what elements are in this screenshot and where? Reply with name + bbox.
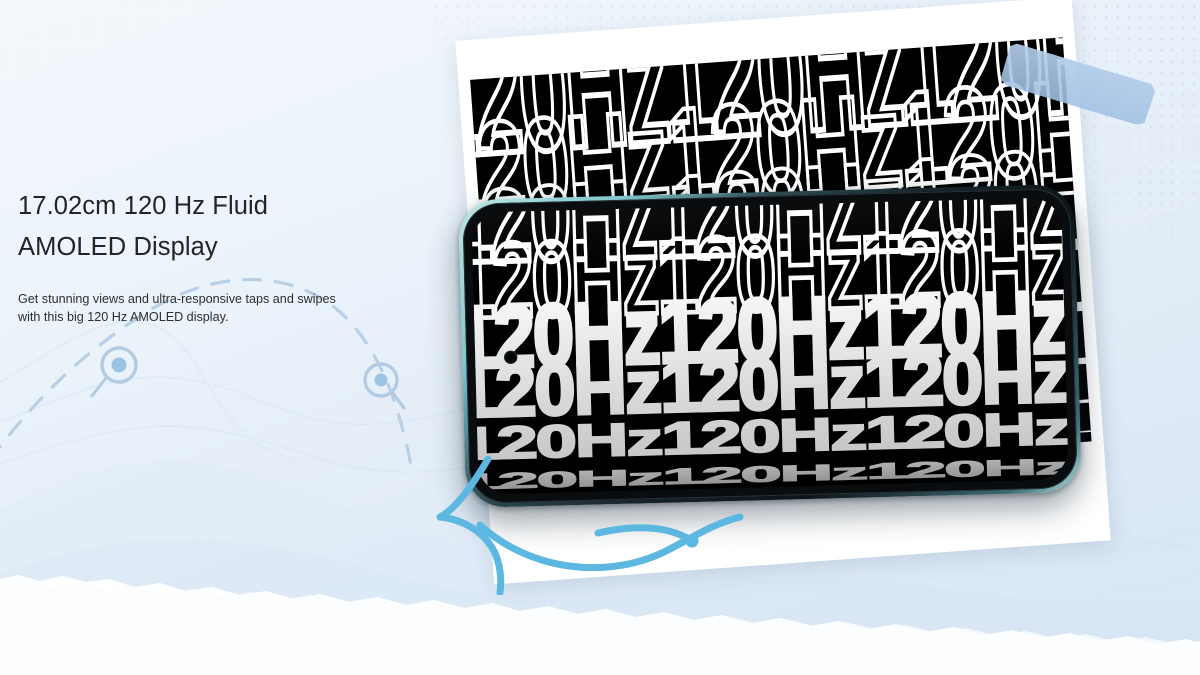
headline: 17.02cm 120 Hz Fluid AMOLED Display (18, 186, 418, 268)
copy-block: 17.02cm 120 Hz Fluid AMOLED Display Get … (18, 186, 418, 326)
promo-banner: 17.02cm 120 Hz Fluid AMOLED Display Get … (0, 0, 1200, 675)
phone-frame: 120Hz120Hz120Hz 120Hz120Hz120Hz 120Hz120… (458, 184, 1082, 508)
phone-hz-wallpaper: 120Hz120Hz120Hz 120Hz120Hz120Hz 120Hz120… (471, 197, 1068, 494)
phone-screen: 120Hz120Hz120Hz 120Hz120Hz120Hz 120Hz120… (471, 197, 1068, 494)
phone-bezel: 120Hz120Hz120Hz 120Hz120Hz120Hz 120Hz120… (462, 188, 1078, 504)
phone-device: 120Hz120Hz120Hz 120Hz120Hz120Hz 120Hz120… (458, 184, 1082, 508)
subcopy: Get stunning views and ultra-responsive … (18, 290, 396, 326)
